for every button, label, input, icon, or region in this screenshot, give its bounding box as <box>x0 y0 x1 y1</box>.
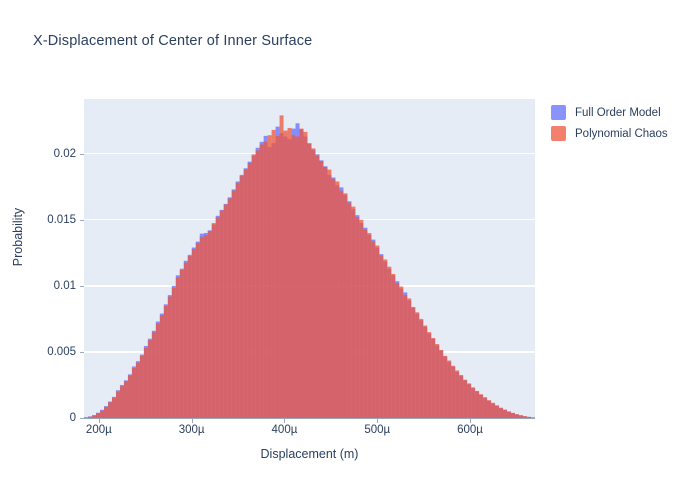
x-tick-label: 600µ <box>457 424 483 436</box>
histogram-bar <box>116 392 120 418</box>
y-tick-label: 0.015 <box>47 214 76 226</box>
histogram-bar <box>343 193 347 418</box>
histogram-bar <box>463 380 467 418</box>
histogram-bar <box>220 211 224 418</box>
histogram-bar <box>228 199 232 418</box>
histogram-bar <box>443 356 447 418</box>
histogram-bar <box>315 156 319 418</box>
histogram-bar <box>140 356 144 418</box>
legend-label: Polynomial Chaos <box>575 128 668 140</box>
y-tick-label: 0.01 <box>54 280 76 292</box>
histogram-bar <box>176 277 180 418</box>
histogram-bar <box>256 150 260 418</box>
histogram-bar <box>296 137 300 418</box>
histogram-bar <box>124 381 128 418</box>
histogram-bar <box>252 154 256 418</box>
x-tick-label: 300µ <box>179 424 205 436</box>
histogram-bar <box>455 370 459 418</box>
legend-item-polynomial-chaos[interactable]: Polynomial Chaos <box>551 125 668 142</box>
histogram-bar <box>483 397 487 418</box>
histogram-bar <box>471 387 475 418</box>
plot-area <box>84 99 535 418</box>
histogram-bar <box>132 368 136 418</box>
histogram-bar <box>499 408 503 418</box>
x-tick-mark <box>192 419 193 423</box>
histogram-bar <box>212 223 216 418</box>
histogram-bar <box>240 176 244 418</box>
histogram-bar <box>323 167 327 418</box>
x-axis-title: Displacement (m) <box>84 447 535 461</box>
histogram-bar <box>276 136 280 418</box>
histogram-bar <box>288 128 292 418</box>
x-tick-mark <box>470 419 471 423</box>
legend-swatch-icon <box>551 126 566 141</box>
y-tick-label: 0.005 <box>47 346 76 358</box>
histogram-bar <box>208 231 212 418</box>
legend-item-full-order-model[interactable]: Full Order Model <box>551 104 668 121</box>
histogram-bar <box>188 256 192 418</box>
histogram-bar <box>304 132 308 418</box>
histogram-bar <box>491 403 495 418</box>
histogram-bar <box>331 179 335 418</box>
histogram-bar <box>399 287 403 418</box>
histogram-bar <box>148 340 152 418</box>
page-title: X-Displacement of Center of Inner Surfac… <box>33 33 312 49</box>
histogram-bar <box>172 288 176 418</box>
histogram-bar <box>204 235 208 418</box>
histogram-bar <box>196 243 200 418</box>
histogram-bar <box>423 326 427 419</box>
histogram-bar <box>503 410 507 418</box>
y-tick-mark <box>80 220 84 221</box>
legend: Full Order ModelPolynomial Chaos <box>551 104 668 146</box>
histogram-bar <box>459 375 463 418</box>
x-tick-mark <box>284 419 285 423</box>
histogram-bar <box>451 366 455 418</box>
histogram-bar <box>379 255 383 418</box>
histogram-bar <box>447 361 451 418</box>
histogram-bar <box>244 170 248 418</box>
histogram-bar <box>427 332 431 418</box>
histogram-bar <box>327 170 331 418</box>
histogram-bar <box>339 191 343 418</box>
histogram-bar <box>128 375 132 418</box>
histogram-bar <box>156 324 160 418</box>
histogram-bar <box>439 350 443 418</box>
histogram-bar <box>236 183 240 418</box>
histogram-bar <box>335 181 339 418</box>
histogram-bar <box>347 203 351 418</box>
histogram-bar <box>216 217 220 418</box>
histogram-bar <box>100 411 104 418</box>
y-tick-label: 0.02 <box>54 148 76 160</box>
histogram-bar <box>375 246 379 418</box>
histogram-bar <box>268 135 272 418</box>
histogram-bar <box>112 398 116 418</box>
histogram-bar <box>403 295 407 418</box>
histogram-bar <box>224 205 228 418</box>
histogram-bar <box>363 230 367 418</box>
histogram-bar <box>435 344 439 418</box>
y-tick-mark <box>80 154 84 155</box>
histogram-bar <box>479 394 483 418</box>
histogram-bar <box>319 161 323 418</box>
series-polynomial-chaos <box>84 115 535 418</box>
histogram-bars <box>84 99 535 418</box>
histogram-bar <box>248 163 252 418</box>
histogram-bar <box>507 411 511 418</box>
histogram-bar <box>232 191 236 418</box>
x-tick-label: 500µ <box>364 424 390 436</box>
legend-swatch-icon <box>551 105 566 120</box>
histogram-bar <box>108 402 112 418</box>
y-tick-mark <box>80 352 84 353</box>
plotly-figure: X-Displacement of Center of Inner Surfac… <box>0 0 700 500</box>
histogram-bar <box>487 400 491 418</box>
histogram-bar <box>292 135 296 418</box>
histogram-bar <box>200 237 204 418</box>
histogram-bar <box>144 348 148 418</box>
legend-label: Full Order Model <box>575 107 661 119</box>
histogram-bar <box>180 270 184 418</box>
histogram-bar <box>415 312 419 418</box>
histogram-bar <box>284 131 288 418</box>
histogram-bar <box>351 207 355 418</box>
histogram-bar <box>467 383 471 418</box>
histogram-bar <box>120 386 124 418</box>
histogram-bar <box>359 220 363 418</box>
histogram-bar <box>395 283 399 418</box>
histogram-bar <box>308 144 312 418</box>
histogram-bar <box>168 297 172 418</box>
histogram-bar <box>192 249 196 418</box>
histogram-bar <box>104 407 108 418</box>
y-tick-label: 0 <box>70 412 76 424</box>
histogram-bar <box>407 298 411 418</box>
histogram-bar <box>272 130 276 418</box>
histogram-bar <box>495 405 499 418</box>
x-axis-line <box>84 418 535 419</box>
histogram-bar <box>136 363 140 419</box>
histogram-bar <box>160 315 164 418</box>
histogram-bar <box>367 233 371 418</box>
histogram-bar <box>431 338 435 418</box>
histogram-bar <box>264 142 268 418</box>
x-tick-mark <box>99 419 100 423</box>
x-tick-label: 200µ <box>86 424 112 436</box>
histogram-bar <box>300 129 304 418</box>
histogram-bar <box>355 217 359 418</box>
x-tick-mark <box>377 419 378 423</box>
histogram-bar <box>280 115 284 418</box>
histogram-bar <box>387 267 391 418</box>
histogram-bar <box>164 306 168 418</box>
histogram-bar <box>383 259 387 418</box>
histogram-bar <box>391 274 395 418</box>
histogram-bar <box>419 319 423 418</box>
histogram-bar <box>260 144 264 418</box>
y-tick-mark <box>80 418 84 419</box>
histogram-bar <box>184 263 188 418</box>
x-tick-label: 400µ <box>272 424 298 436</box>
histogram-bar <box>411 307 415 418</box>
histogram-bar <box>152 332 156 418</box>
y-axis-title: Probability <box>11 197 25 277</box>
y-tick-mark <box>80 286 84 287</box>
histogram-bar <box>475 391 479 418</box>
histogram-bar <box>312 148 316 418</box>
histogram-bar <box>371 242 375 418</box>
